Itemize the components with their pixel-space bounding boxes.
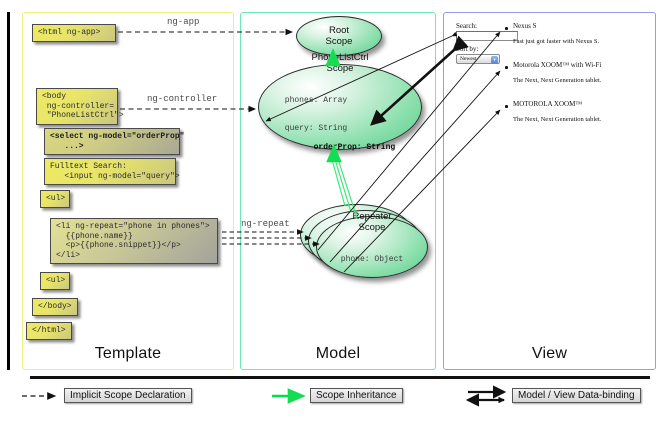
legend-glyph-model-view-data-binding — [468, 392, 504, 400]
phone-title[interactable]: Motorola XOOM™ with Wi-Fi — [513, 61, 601, 69]
prop-orderprop: orderProp: String — [314, 143, 396, 152]
code-box-ul-open: <ul> — [40, 190, 70, 208]
code-box-html-open: <html ng-app> — [32, 24, 116, 42]
panel-title-template: Template — [23, 345, 233, 363]
scope-repeater: Repeater Scope phone: Object — [316, 216, 428, 278]
scope-root-title-2: Scope — [326, 36, 353, 47]
code-box-html-close: </html> — [26, 322, 72, 340]
phone-title[interactable]: MOTOROLA XOOM™ — [513, 100, 582, 108]
phone-snippet: The Next, Next Generation tablet. — [513, 116, 601, 123]
scope-phonelistctrl-title-2: Scope — [327, 63, 354, 74]
panel-title-view: View — [444, 345, 655, 363]
code-box-fulltext-search: Fulltext Search: <input ng-model="query"… — [44, 158, 176, 185]
code-box-body-controller: <body ng-controller= "PhoneListCtrl"> — [36, 88, 118, 125]
list-bullet-icon — [505, 27, 508, 30]
scope-root: Root Scope — [296, 16, 382, 56]
phone-title[interactable]: Nexus S — [513, 22, 537, 30]
code-box-ul-close: <ul> — [40, 272, 70, 290]
scope-phonelistctrl: PhoneListCtrl Scope phones: Array query:… — [258, 64, 422, 150]
list-bullet-icon — [505, 66, 508, 69]
diagram-canvas: Template Model View <html ng-app> <body … — [0, 0, 661, 425]
legend-label-model-view-data-binding: Model / View Data-binding — [512, 388, 641, 403]
prop-phones: phones: Array — [285, 96, 395, 106]
scope-repeater-title-2: Scope — [359, 222, 386, 233]
scope-phonelistctrl-props: phones: Array query: String orderProp: S… — [285, 77, 395, 163]
scope-phonelistctrl-title-1: PhoneListCtrl — [311, 52, 368, 63]
scope-root-title-1: Root — [329, 25, 349, 36]
prop-query: query: String — [285, 124, 395, 134]
code-box-li-ng-repeat: <li ng-repeat="phone in phones"> {{phone… — [50, 218, 218, 264]
search-input[interactable] — [456, 31, 518, 41]
scope-repeater-props: phone: Object — [341, 236, 403, 284]
left-vertical-rule — [7, 12, 10, 370]
view-search-label: Search: — [456, 22, 477, 30]
prop-phone: phone: Object — [341, 255, 403, 265]
scope-repeater-title-1: Repeater — [352, 211, 391, 222]
panel-title-model: Model — [241, 345, 435, 363]
code-box-select-orderprop: <select ng-model="orderProp" ...> — [44, 128, 180, 155]
sort-select[interactable]: Newest ▾ — [456, 54, 500, 64]
chevron-updown-icon[interactable]: ▾ — [491, 56, 498, 64]
view-sort-label: Sort by: — [456, 45, 478, 53]
phone-snippet: The Next, Next Generation tablet. — [513, 77, 601, 84]
phone-snippet: Fast just got faster with Nexus S. — [513, 38, 599, 45]
view-browser-mock: Search: Sort by: Newest ▾ Nexus S Fast j… — [451, 20, 649, 344]
legend-label-scope-inheritance: Scope Inheritance — [310, 388, 403, 403]
sort-select-value: Newest — [460, 56, 477, 62]
legend-label-implicit-scope-declaration: Implicit Scope Declaration — [64, 388, 192, 403]
legend-separator-rule — [30, 376, 650, 379]
code-box-body-close: </body> — [32, 298, 78, 316]
edge-label-ng-repeat: ng-repeat — [241, 219, 290, 229]
list-bullet-icon — [505, 105, 508, 108]
edge-label-ng-app: ng-app — [167, 17, 199, 27]
edge-label-ng-controller: ng-controller — [147, 94, 217, 104]
